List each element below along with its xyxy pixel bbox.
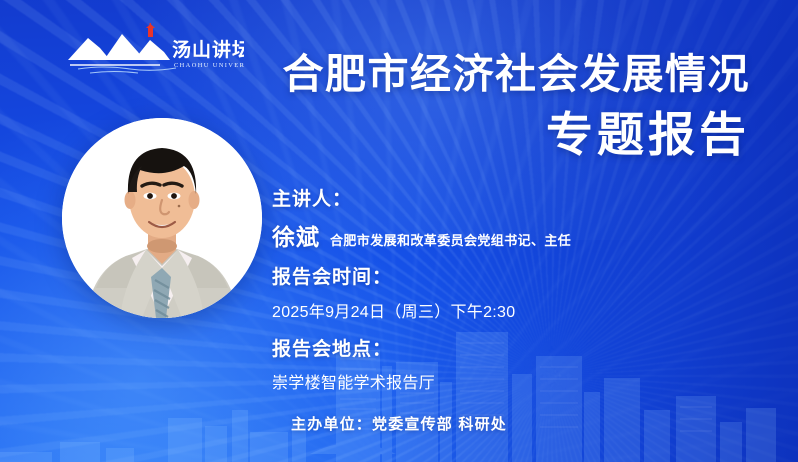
time-label: 报告会时间：	[272, 266, 742, 290]
poster-title-block: 合肥市经济社会发展情况 专题报告	[283, 52, 751, 161]
speaker-label: 主讲人：	[272, 188, 742, 212]
speaker-row: 徐斌 合肥市发展和改革委员会党组书记、主任	[272, 218, 742, 252]
footer: 主办单位：党委宣传部 科研处	[0, 413, 798, 434]
poster-title-line-1: 合肥市经济社会发展情况	[283, 52, 751, 96]
organizer-text: 主办单位：党委宣传部 科研处	[291, 413, 507, 434]
poster-canvas: 汤山讲坛 CHAOHU UNIVERSITY 合肥市经济社会发展情况 专题报告	[0, 0, 798, 462]
speaker-position: 合肥市发展和改革委员会党组书记、主任	[330, 230, 571, 249]
brand-logo: 汤山讲坛 CHAOHU UNIVERSITY	[64, 22, 244, 78]
poster-title-line-2: 专题报告	[283, 110, 751, 161]
location-label: 报告会地点：	[272, 338, 742, 362]
time-value: 2025年9月24日（周三）下午2:30	[272, 298, 742, 322]
event-details: 主讲人： 徐斌 合肥市发展和改革委员会党组书记、主任 报告会时间： 2025年9…	[272, 188, 742, 393]
svg-text:汤山讲坛: 汤山讲坛	[172, 38, 244, 61]
speaker-name: 徐斌	[272, 218, 320, 252]
svg-text:CHAOHU UNIVERSITY: CHAOHU UNIVERSITY	[174, 62, 244, 69]
location-value: 崇学楼智能学术报告厅	[272, 369, 742, 393]
speaker-portrait	[62, 118, 262, 318]
